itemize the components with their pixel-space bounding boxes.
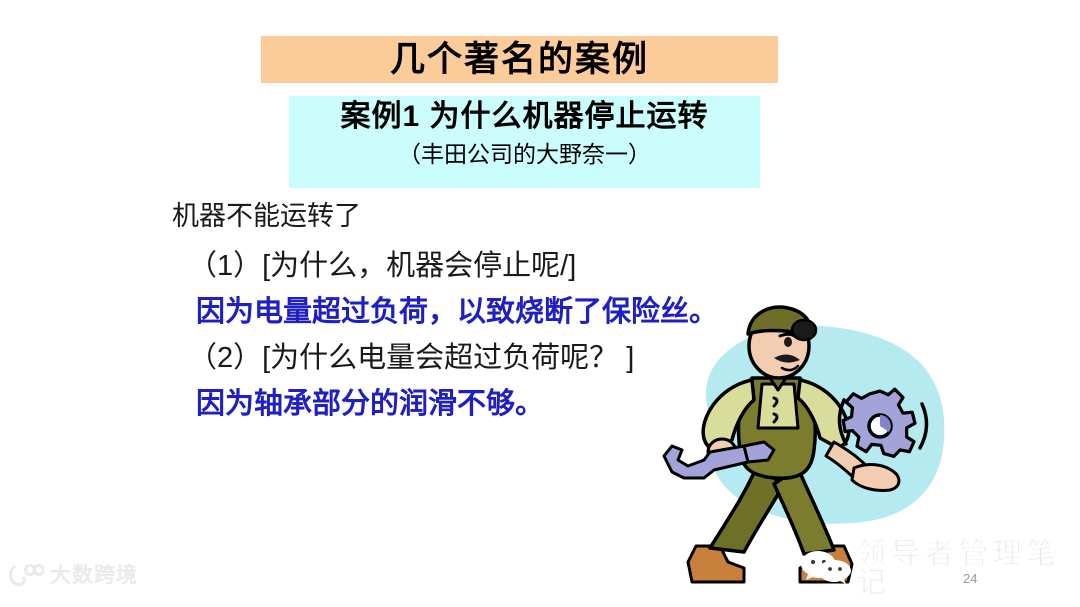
body-heading: 机器不能运转了	[172, 203, 812, 230]
page-title: 几个著名的案例	[390, 42, 649, 77]
question-line-1: （1）[为什么，机器会停止呢/]	[188, 252, 812, 281]
watermark-left-text: 大数跨境	[50, 565, 138, 586]
watermark-right-text: 领导者管理笔记	[857, 540, 1080, 598]
watermark-right: 领导者管理笔记	[800, 540, 1080, 598]
watermark-left: 大数跨境	[8, 563, 138, 587]
subtitle-sub-text: （丰田公司的大野奈一）	[398, 140, 651, 169]
dashukuajing-logo-icon	[8, 563, 44, 587]
page-number: 24	[963, 572, 977, 585]
wechat-icon	[800, 547, 852, 592]
subtitle-main-text: 案例1 为什么机器停止运转	[340, 99, 708, 135]
subtitle-block: 案例1 为什么机器停止运转 （丰田公司的大野奈一）	[289, 96, 760, 188]
title-banner: 几个著名的案例	[261, 36, 778, 83]
slide-canvas: 几个著名的案例 案例1 为什么机器停止运转 （丰田公司的大野奈一） 机器不能运转…	[0, 0, 1080, 607]
